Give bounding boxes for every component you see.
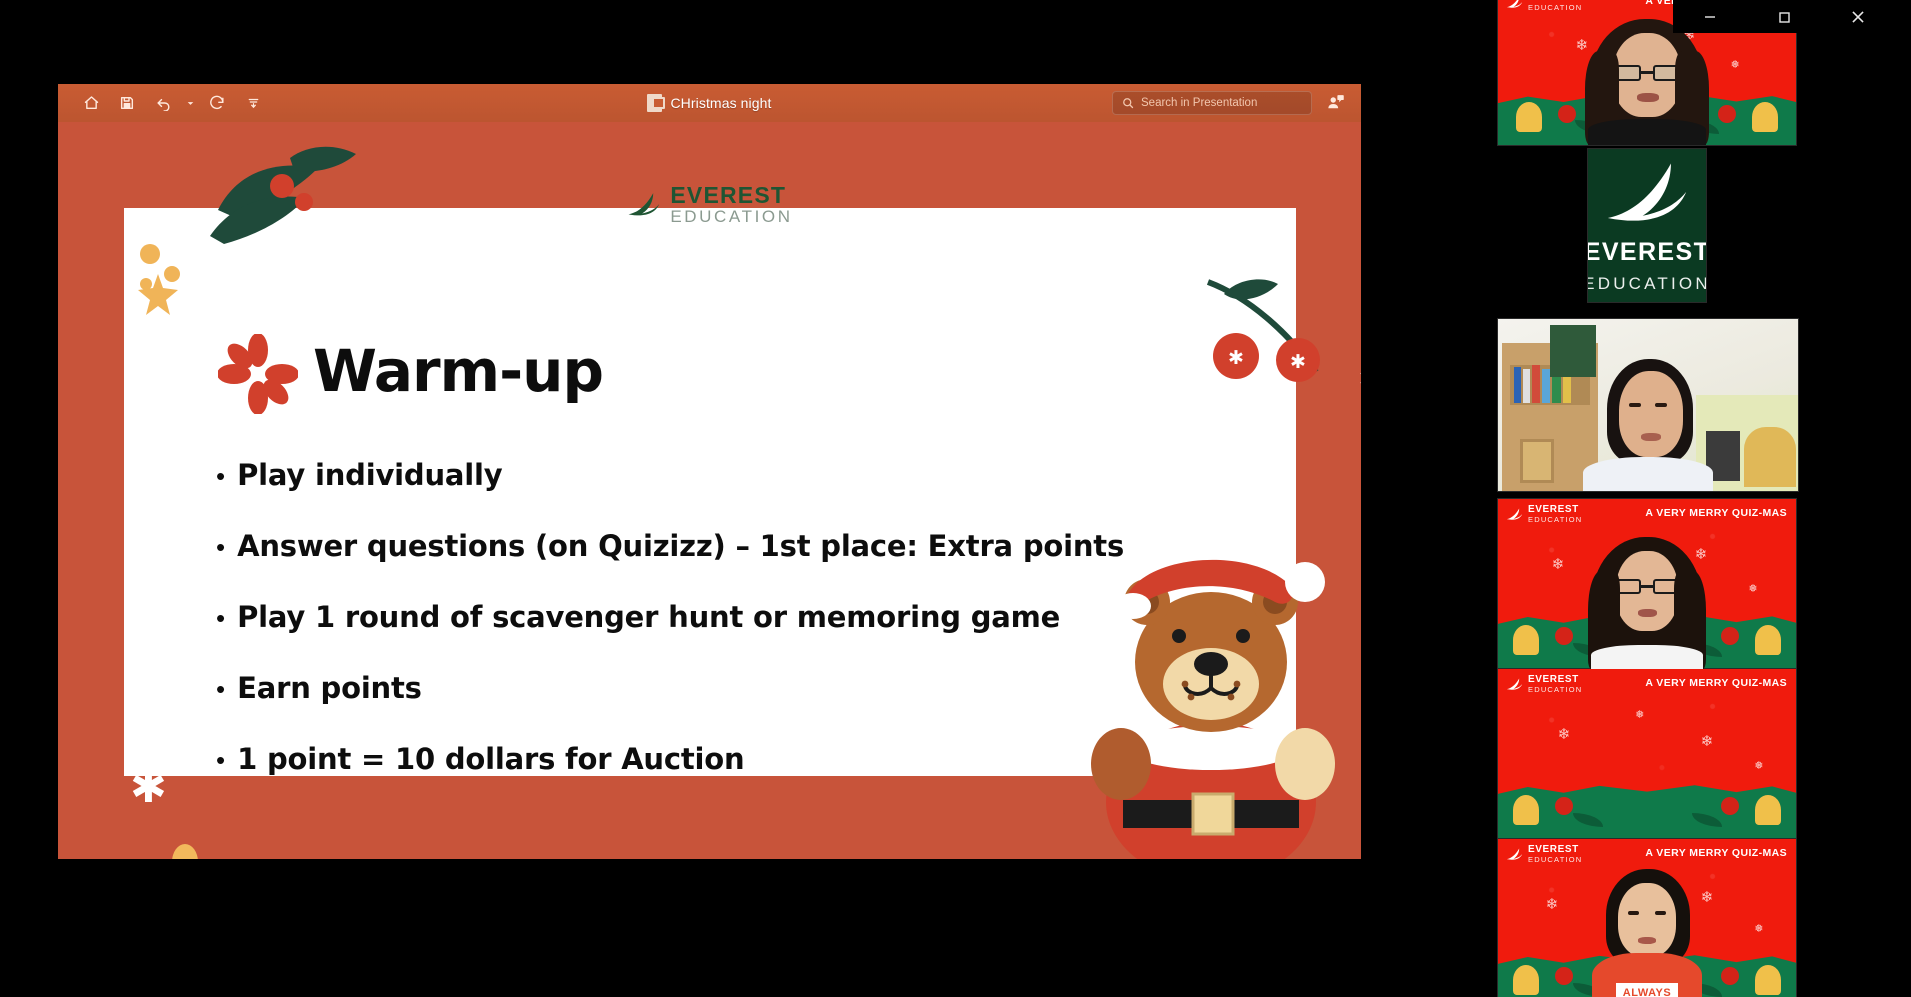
slide-logo: EVEREST EDUCATION	[626, 184, 792, 225]
tile-4-logo: EVEREST EDUCATION	[1506, 505, 1582, 523]
toolbar-right-group	[1112, 91, 1361, 115]
tile-4-glasses-icon	[1614, 579, 1680, 594]
slide-bullet-list: • Play individually • Answer questions (…	[216, 458, 1246, 813]
home-icon[interactable]	[76, 90, 106, 116]
tile-6-caption: A VERY MERRY QUIZ-MAS	[1645, 847, 1787, 859]
tile-6-shirt-text: ALWAYS	[1616, 983, 1678, 997]
tile-1-person	[1567, 17, 1727, 145]
bullet-text: Answer questions (on Quizizz) – 1st plac…	[237, 529, 1124, 563]
bell-icon	[1516, 102, 1542, 132]
window-controls	[1491, 0, 1911, 33]
snowflake-icon: ❄	[1546, 897, 1559, 912]
presentation-toolbar: CHristmas night	[58, 84, 1361, 122]
tile-3-chair	[1744, 427, 1796, 487]
tile-5-logo: EVEREST EDUCATION	[1506, 675, 1582, 693]
snowflake-icon: ❅	[1635, 710, 1644, 721]
book-icon	[1532, 365, 1540, 403]
undo-dropdown-icon[interactable]	[184, 90, 196, 116]
bullet-marker: •	[216, 676, 225, 702]
bullet-marker: •	[216, 747, 225, 773]
tile-6-person: ALWAYS	[1572, 869, 1722, 997]
tile-4-logo-text: EVEREST EDUCATION	[1528, 505, 1582, 523]
everest-mountain-icon	[1603, 157, 1691, 231]
maximize-icon[interactable]	[1747, 0, 1821, 33]
presentation-title: CHristmas night	[670, 95, 771, 111]
tile-1-glasses-icon	[1611, 65, 1683, 81]
participant-tile-4[interactable]: ❄ ❄ ❅ EVEREST EDUCATION A VERY MERRY QUI…	[1497, 498, 1797, 670]
more-options-icon[interactable]	[238, 90, 268, 116]
slide-canvas[interactable]: ✱ ✱ ✱ ✱ ✱ ✱	[58, 122, 1361, 859]
share-person-icon[interactable]	[1326, 94, 1345, 112]
video-participant-rail: ❄ ❄ ❅ EVEREST EDUCATION A VERY MERRY QUI…	[1493, 0, 1911, 997]
presentation-window: CHristmas night	[58, 84, 1361, 859]
participant-tile-3[interactable]	[1497, 318, 1799, 492]
participant-tile-5[interactable]: ❄ ❅ ❄ ❅ EVEREST EDUCATION A VERY MERRY Q…	[1497, 668, 1797, 840]
toolbar-left-buttons	[58, 90, 268, 116]
screen-root: CHristmas night	[0, 0, 1911, 997]
berry-icon	[1555, 627, 1573, 645]
slide-logo-text: EVEREST EDUCATION	[670, 184, 792, 225]
berry-icon	[1555, 967, 1573, 985]
participant-tile-2[interactable]: EVEREST EDUCATION	[1587, 148, 1707, 303]
snowflake-icon: ✱	[1358, 357, 1361, 402]
bullet-item: • Play individually	[216, 458, 1246, 492]
bullet-item: • Answer questions (on Quizizz) – 1st pl…	[216, 529, 1246, 563]
snowflake-icon: ❄	[1701, 734, 1714, 749]
slide-title: Warm-up	[313, 337, 603, 405]
bell-icon	[1513, 625, 1539, 655]
bell-icon	[1755, 965, 1781, 995]
participant-tile-6[interactable]: ❄ ❄ ❅ EVEREST EDUCATION A VERY MERRY QUI…	[1497, 838, 1797, 997]
everest-mountain-icon	[626, 190, 660, 220]
bullet-text: 1 point = 10 dollars for Auction	[237, 742, 744, 776]
tile-6-logo: EVEREST EDUCATION	[1506, 845, 1582, 863]
redo-icon[interactable]	[202, 90, 232, 116]
tile-5-logo-text: EVEREST EDUCATION	[1528, 675, 1582, 693]
minimize-icon[interactable]	[1673, 0, 1747, 33]
everest-mountain-icon	[1506, 677, 1523, 692]
document-icon	[647, 94, 662, 112]
snowflake-icon: ❄	[1552, 557, 1565, 572]
bell-icon	[1755, 795, 1781, 825]
tile-5-logo-line1: EVEREST	[1528, 675, 1582, 686]
bullet-marker: •	[216, 463, 225, 489]
bell-icon	[1752, 102, 1778, 132]
tile-6-logo-text: EVEREST EDUCATION	[1528, 845, 1582, 863]
bell-icon	[1755, 625, 1781, 655]
search-input[interactable]	[1141, 97, 1302, 109]
snowflake-icon: ❅	[1730, 60, 1739, 71]
flower-decoration	[140, 842, 230, 859]
tile-4-logo-line2: EDUCATION	[1528, 516, 1582, 524]
snowflake-icon: ❅	[1748, 584, 1757, 595]
book-icon	[1514, 367, 1521, 403]
tile-6-logo-line2: EDUCATION	[1528, 856, 1582, 864]
bullet-text: Earn points	[237, 671, 422, 705]
tile-4-person	[1572, 535, 1722, 669]
tile-5-caption: A VERY MERRY QUIZ-MAS	[1645, 677, 1787, 689]
tile-3-picture-frame	[1520, 439, 1554, 483]
bullet-item: • Earn points	[216, 671, 1246, 705]
close-icon[interactable]	[1821, 0, 1895, 33]
tile-4-logo-line1: EVEREST	[1528, 505, 1582, 516]
snowflake-icon: ❅	[1754, 924, 1763, 935]
bullet-item: • 1 point = 10 dollars for Auction	[216, 742, 1246, 776]
tile-5-logo-line2: EDUCATION	[1528, 686, 1582, 694]
everest-mountain-icon	[1506, 847, 1523, 862]
tile-6-logo-line1: EVEREST	[1528, 845, 1582, 856]
bullet-text: Play individually	[237, 458, 502, 492]
poinsettia-icon	[218, 334, 298, 414]
berry-icon	[1555, 797, 1573, 815]
search-icon	[1122, 97, 1134, 109]
save-icon[interactable]	[112, 90, 142, 116]
undo-icon[interactable]	[148, 90, 178, 116]
snowflake-icon: ❄	[1558, 727, 1571, 742]
bullet-text: Play 1 round of scavenger hunt or memori…	[237, 600, 1060, 634]
slide-logo-line2: EDUCATION	[670, 208, 792, 225]
bullet-item: • Play 1 round of scavenger hunt or memo…	[216, 600, 1246, 634]
snowflake-icon: ❅	[1754, 761, 1763, 772]
bullet-marker: •	[216, 534, 225, 560]
everest-mountain-icon	[1506, 507, 1523, 522]
slide-logo-line1: EVEREST	[670, 184, 792, 207]
bell-icon	[1513, 965, 1539, 995]
bullet-marker: •	[216, 605, 225, 631]
tile-2-logo-line2: EDUCATION	[1587, 274, 1707, 294]
tile-3-person	[1573, 359, 1723, 491]
tile-2-logo-line1: EVEREST	[1587, 238, 1707, 267]
book-icon	[1523, 369, 1530, 403]
bell-icon	[1513, 795, 1539, 825]
search-box[interactable]	[1112, 91, 1312, 115]
tile-4-caption: A VERY MERRY QUIZ-MAS	[1645, 507, 1787, 519]
book-icon	[1542, 369, 1550, 403]
